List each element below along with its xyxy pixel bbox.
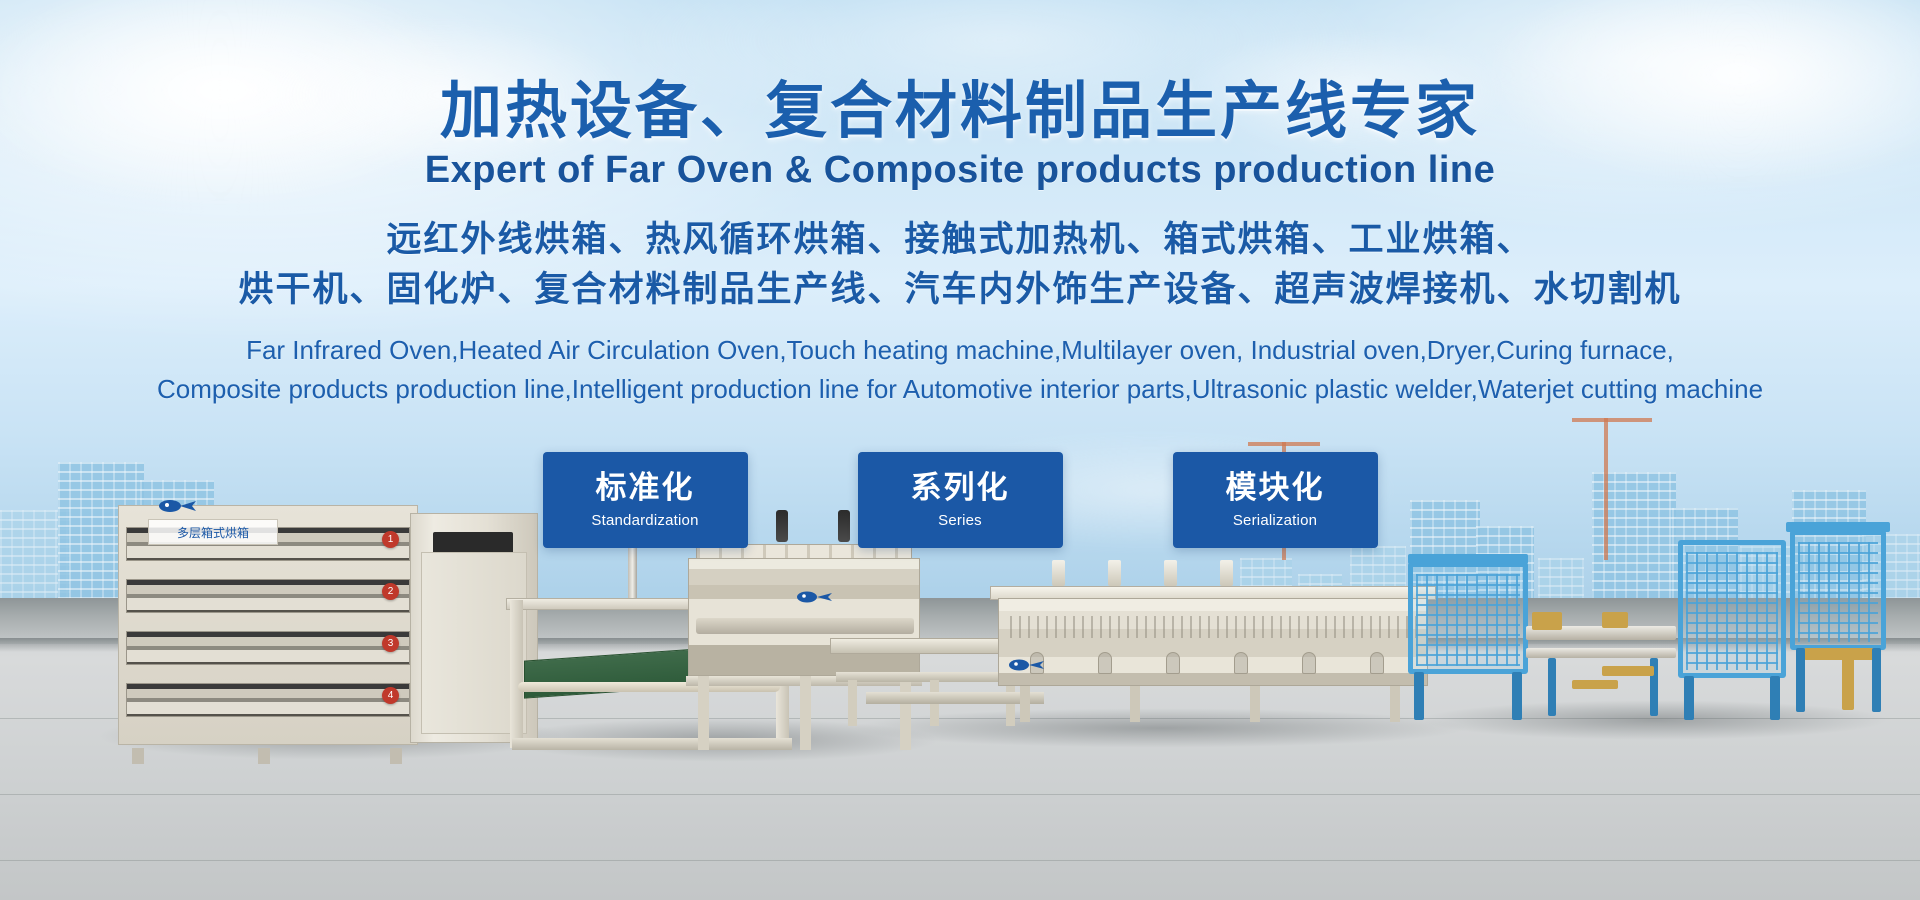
robot-arm-icon [1804, 648, 1874, 660]
promotional-banner: 多层箱式烘箱 1 2 3 4 [0, 0, 1920, 900]
exhaust-hood-icon [1220, 560, 1233, 586]
safety-mesh-icon [1798, 542, 1878, 642]
product-list-english-line-1: Far Infrared Oven,Heated Air Circulation… [0, 331, 1920, 370]
oven-shelf [126, 631, 410, 665]
badge-label-en: Series [938, 512, 982, 529]
motor-unit-icon [1602, 612, 1628, 628]
safety-mesh-icon [1686, 552, 1778, 670]
badge-label-cn: 系列化 [911, 471, 1010, 505]
inspection-window [1166, 652, 1180, 674]
badge-label-cn: 模块化 [1226, 471, 1325, 505]
headline-english: Expert of Far Oven & Composite products … [0, 149, 1920, 192]
inspection-window [1098, 652, 1112, 674]
robot-arm-icon [1572, 680, 1618, 689]
construction-crane-icon [1572, 418, 1652, 422]
machine-tunnel-oven [830, 560, 1450, 760]
oven-shelf [126, 579, 410, 613]
product-list-english-line-2: Composite products production line,Intel… [0, 370, 1920, 409]
badge-label-en: Serialization [1233, 512, 1317, 529]
oven-shelf [126, 683, 410, 717]
rail-support [1548, 658, 1556, 716]
cell-leg [1770, 676, 1780, 720]
oven-tunnel-body [998, 598, 1428, 686]
exhaust-hood-icon [1052, 560, 1065, 586]
robot-arm-icon [1842, 656, 1854, 710]
shelf-number-badge: 2 [382, 583, 399, 600]
inspection-window [1302, 652, 1316, 674]
cell-leg [1512, 672, 1522, 720]
inspection-window [1234, 652, 1248, 674]
cell-leg [1872, 648, 1881, 712]
return-belt [866, 692, 1044, 704]
cell-crossbar [1408, 554, 1528, 564]
shelf-number-badge: 4 [382, 687, 399, 704]
shelf-number-markers: 1 2 3 4 [382, 531, 404, 739]
badge-serialization[interactable]: 模块化 Serialization [1173, 452, 1378, 548]
frame-post [510, 600, 523, 748]
exhaust-hood-icon [1164, 560, 1177, 586]
product-list-chinese-line-1: 远红外线烘箱、热风循环烘箱、接触式加热机、箱式烘箱、工业烘箱、 [0, 216, 1920, 266]
motor-unit-icon [1532, 612, 1562, 630]
machine-automation-cells [1400, 530, 1900, 760]
cell-leg [1796, 648, 1805, 712]
headline-chinese: 加热设备、复合材料制品生产线专家 [0, 78, 1920, 143]
exhaust-hood-icon [1108, 560, 1121, 586]
robot-arm-icon [1602, 666, 1654, 676]
linear-rail [1526, 648, 1676, 658]
safety-mesh-icon [1416, 574, 1520, 666]
badge-label-en: Standardization [591, 512, 698, 529]
company-logo-icon [1008, 656, 1048, 674]
badge-series[interactable]: 系列化 Series [858, 452, 1063, 548]
feature-badges: 标准化 Standardization 系列化 Series 模块化 Seria… [0, 452, 1920, 548]
badge-label-cn: 标准化 [596, 471, 695, 505]
product-list-english: Far Infrared Oven,Heated Air Circulation… [0, 331, 1920, 409]
construction-crane-icon [1248, 442, 1320, 446]
banner-text-block: 加热设备、复合材料制品生产线专家 Expert of Far Oven & Co… [0, 0, 1920, 409]
inspection-window [1370, 652, 1384, 674]
product-list-chinese-line-2: 烘干机、固化炉、复合材料制品生产线、汽车内外饰生产设备、超声波焊接机、水切割机 [0, 266, 1920, 316]
product-list-chinese: 远红外线烘箱、热风循环烘箱、接触式加热机、箱式烘箱、工业烘箱、 烘干机、固化炉、… [0, 216, 1920, 315]
machine-base [512, 738, 792, 750]
badge-standardization[interactable]: 标准化 Standardization [543, 452, 748, 548]
vent-grille-icon [1010, 616, 1416, 638]
shelf-number-badge: 3 [382, 635, 399, 652]
cell-leg [1684, 676, 1694, 720]
cell-leg [1414, 672, 1424, 720]
